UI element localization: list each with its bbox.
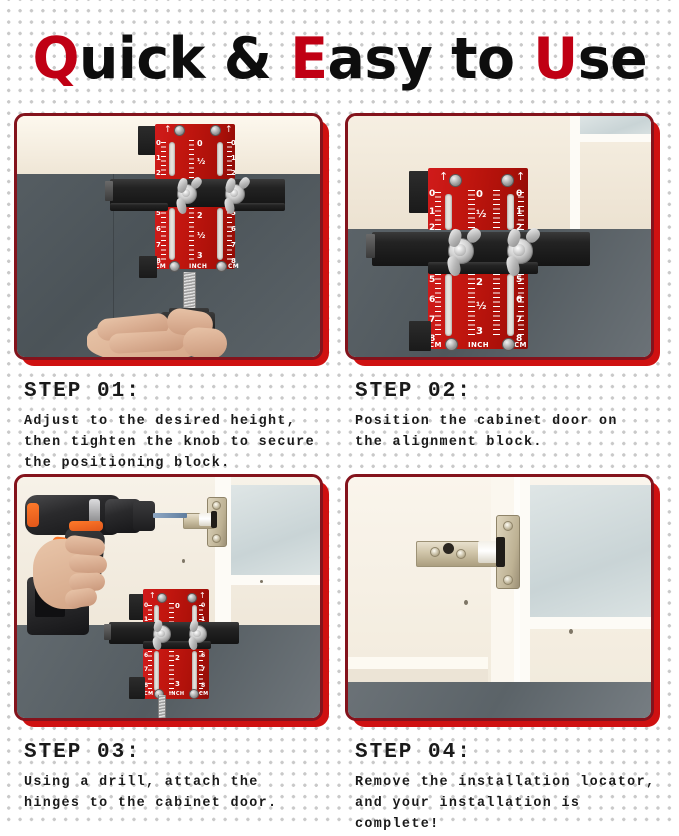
jig-slot-right-lower: [507, 274, 514, 336]
cm-num-r0: 0: [201, 603, 205, 609]
step-text-02: STEP 02: Position the cabinet door on th…: [345, 366, 665, 454]
inch-num-3: 3: [197, 252, 203, 260]
crossbar-step-left: [110, 203, 168, 211]
inch-num-0: 0: [175, 603, 180, 610]
tick-inch-upper-left: [468, 190, 475, 230]
cm-label-left: CM: [144, 692, 153, 697]
inch-num-2: 2: [476, 278, 483, 288]
step-heading: STEP 03:: [24, 741, 334, 764]
step-card-03: ↑ ↑: [14, 474, 334, 835]
step-body: Using a drill, attach the hinges to the …: [24, 773, 334, 815]
jig-slot-right-lower: [217, 208, 223, 260]
cm-num-r7: 7: [201, 667, 205, 673]
jig-bottom-hook: [129, 677, 145, 699]
tick-inch-lower: [189, 208, 194, 262]
photo-frame: ↑ ↑: [14, 113, 323, 360]
jig-slot-right-upper: [507, 194, 514, 230]
cm-label-right: CM: [514, 342, 527, 349]
inch-num-half2: ½: [197, 232, 205, 240]
inch-num-2: 2: [175, 655, 180, 662]
inch-num-2: 2: [197, 212, 203, 220]
step-heading: STEP 02:: [355, 380, 665, 403]
jig-screw-bottom-right: [216, 261, 227, 272]
jig-arrow-left-icon: ↑: [149, 592, 156, 600]
crossbar-left-lip: [104, 624, 111, 640]
inch-num-0: 0: [197, 140, 203, 148]
cm-num-2: 2: [156, 170, 161, 177]
cm-num-r6: 6: [516, 296, 522, 305]
inch-label: INCH: [169, 692, 185, 697]
cm-num-1: 1: [429, 208, 435, 217]
scene-drill-hinge: ↑ ↑: [17, 477, 320, 718]
tick-cm-left-lower: [435, 274, 441, 336]
cm-num-r7: 7: [516, 316, 522, 325]
cm-num-r6: 6: [231, 226, 236, 233]
step-photo-04: [345, 474, 660, 727]
crossbar-step-right: [231, 203, 285, 211]
finger-middle: [109, 330, 186, 354]
finger-ring: [182, 327, 228, 357]
page-background: Quick & Easy to Use: [0, 0, 679, 825]
jig-screw-top-left: [449, 174, 462, 187]
inch-label: INCH: [468, 342, 489, 349]
step-heading: STEP 04:: [355, 741, 665, 764]
cm-num-0: 0: [429, 190, 435, 199]
hinge-pivot: [496, 537, 505, 567]
jig-slot-right-lower: [192, 651, 197, 691]
cm-num-5: 5: [429, 276, 435, 285]
cm-num-r6: 6: [201, 653, 205, 659]
jig-slot-left-lower: [154, 651, 159, 691]
jig-plate-lower: [155, 204, 235, 269]
cm-label-right: CM: [228, 264, 239, 270]
cm-num-r1: 1: [231, 155, 236, 162]
jig-screw-bottom-right: [502, 338, 515, 351]
panel-bottom-edge: [348, 657, 488, 669]
tick-cm-left-lower: [161, 208, 166, 262]
step-text-01: STEP 01: Adjust to the desired height, t…: [14, 366, 334, 474]
step-text-03: STEP 03: Using a drill, attach the hinge…: [14, 727, 334, 815]
cm-num-r2: 2: [231, 170, 236, 177]
page-title: Quick & Easy to Use: [32, 31, 647, 88]
cm-num-5: 5: [156, 210, 161, 217]
crossbar-left-lip: [366, 234, 375, 258]
tick-inch-lower-left: [468, 274, 475, 336]
cm-num-r8: 8: [201, 683, 205, 689]
scene-finished-hinge: [348, 477, 651, 718]
cm-num-r7: 7: [231, 242, 236, 249]
jig-bottom-hook: [409, 321, 431, 351]
step-body: Adjust to the desired height, then tight…: [24, 412, 334, 474]
jig-arrow-left-icon: ↑: [164, 126, 172, 135]
cm-num-r0: 0: [516, 190, 522, 199]
cm-num-0: 0: [156, 140, 161, 147]
jig-arrow-right-icon: ↑: [199, 592, 206, 600]
inch-label: INCH: [189, 264, 207, 270]
door-inner-stile: [520, 477, 530, 682]
tick-inch-lower: [169, 651, 174, 693]
cm-num-7: 7: [144, 667, 148, 673]
step-photo-02: ↑ ↑: [345, 113, 660, 366]
alignment-jig: ↑ ↑: [17, 477, 320, 718]
hinge-cup: [478, 541, 498, 563]
step-body: Position the cabinet door on the alignme…: [355, 412, 665, 454]
steps-grid: ↑ ↑: [14, 113, 665, 836]
scene-jig-position: ↑ ↑: [348, 116, 651, 357]
cm-num-1: 1: [156, 155, 161, 162]
cm-num-r0: 0: [231, 140, 236, 147]
jig-slot-left-upper: [445, 194, 452, 230]
tick-inch-lower-right: [493, 274, 500, 336]
inch-num-3: 3: [476, 327, 483, 337]
jig-screw-top-left: [174, 125, 185, 136]
photo-frame: ↑ ↑: [345, 113, 654, 360]
door-bottom-rail: [520, 617, 651, 629]
step-card-01: ↑ ↑: [14, 113, 334, 474]
jig-screw-top-right: [501, 174, 514, 187]
photo-frame: ↑ ↑: [14, 474, 323, 721]
step-card-04: STEP 04: Remove the installation locator…: [345, 474, 665, 835]
jig-slot-right-upper: [217, 142, 223, 176]
jig-slot-left-lower: [169, 208, 175, 260]
inch-num-0: 0: [476, 190, 483, 200]
floor: [348, 682, 651, 718]
threaded-rod: [158, 695, 166, 718]
jig-screw-bottom-left: [445, 338, 458, 351]
photo-frame: [345, 474, 654, 721]
tick-cm-left-upper: [161, 142, 166, 178]
tick-inch-upper-right: [493, 190, 500, 230]
step-text-04: STEP 04: Remove the installation locator…: [345, 727, 665, 835]
inch-num-half1: ½: [476, 210, 486, 220]
step-body: Remove the installation locator, and you…: [355, 773, 665, 835]
jig-arrow-right-icon: ↑: [225, 126, 233, 135]
crossbar-left-lip: [105, 181, 113, 201]
cm-num-6: 6: [144, 653, 148, 659]
scene-jig-adjust: ↑ ↑: [17, 116, 320, 357]
inch-num-half1: ½: [197, 158, 205, 166]
step-photo-03: ↑ ↑: [14, 474, 329, 727]
step-card-02: ↑ ↑: [345, 113, 665, 474]
hand-adjusting: [87, 308, 237, 357]
cm-num-r5: 5: [516, 276, 522, 285]
jig-screw-top-right: [210, 125, 221, 136]
step-photo-01: ↑ ↑: [14, 113, 329, 366]
cm-num-7: 7: [156, 242, 161, 249]
jig-screw-bottom-left: [169, 261, 180, 272]
jig-arrow-left-icon: ↑: [439, 171, 448, 182]
step-heading: STEP 01:: [24, 380, 334, 403]
tick-cm-left-upper: [435, 192, 441, 230]
cm-num-0: 0: [144, 603, 148, 609]
door-glass: [528, 485, 651, 621]
jig-arrow-right-icon: ↑: [516, 171, 525, 182]
threaded-rod: [183, 272, 196, 312]
tick-inch-upper: [189, 140, 194, 178]
panel-bottom-shadow: [348, 669, 488, 682]
inch-num-half2: ½: [476, 302, 486, 312]
jig-slot-left-upper: [169, 142, 175, 176]
cm-label-right: CM: [199, 692, 208, 697]
cm-num-6: 6: [156, 226, 161, 233]
page-header: Quick & Easy to Use: [0, 24, 679, 94]
cm-num-6: 6: [429, 296, 435, 305]
inch-num-3: 3: [175, 681, 180, 688]
crossbar: [372, 232, 590, 266]
tick-cm-left-lower: [148, 651, 152, 693]
cm-num-r1: 1: [516, 208, 522, 217]
jig-bottom-hook: [139, 256, 157, 278]
jig-slot-left-lower: [445, 274, 452, 336]
